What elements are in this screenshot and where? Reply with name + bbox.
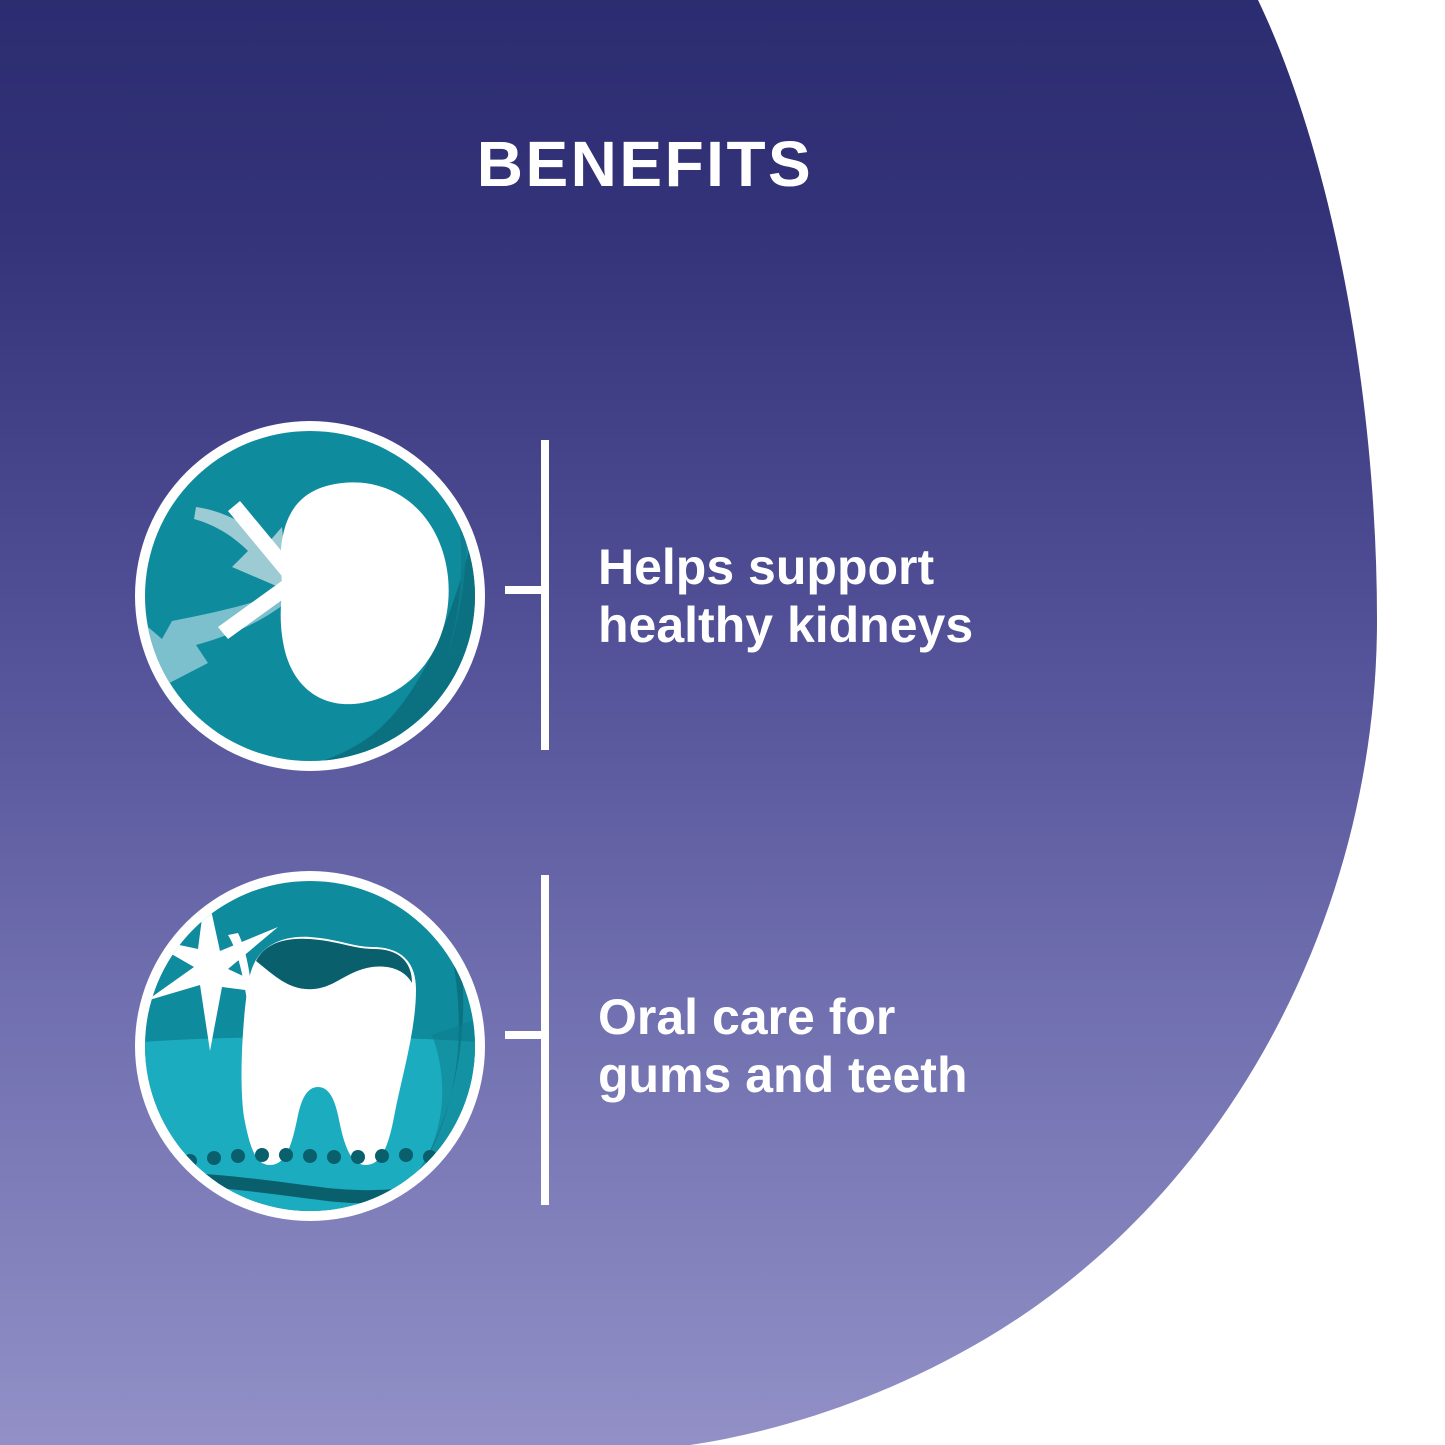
benefit-divider-tooth: [505, 865, 551, 1227]
benefit-row-tooth: Oral care for gums and teeth: [0, 865, 1290, 1230]
benefit-label-line2: gums and teeth: [598, 1046, 1198, 1105]
benefit-divider-kidney: [505, 415, 551, 777]
benefit-label-line2: healthy kidneys: [598, 596, 1198, 655]
benefit-label-kidney: Helps support healthy kidneys: [598, 415, 1198, 777]
benefit-label-line1: Oral care for: [598, 988, 1198, 1047]
benefit-label-tooth: Oral care for gums and teeth: [598, 865, 1198, 1227]
benefits-panel: BENEFITS: [0, 0, 1445, 1445]
page-title: BENEFITS: [0, 132, 1290, 196]
benefit-label-line1: Helps support: [598, 538, 1198, 597]
benefit-row-kidney: Helps support healthy kidneys: [0, 415, 1290, 780]
tooth-icon: [132, 865, 488, 1227]
kidney-icon: [132, 415, 488, 777]
